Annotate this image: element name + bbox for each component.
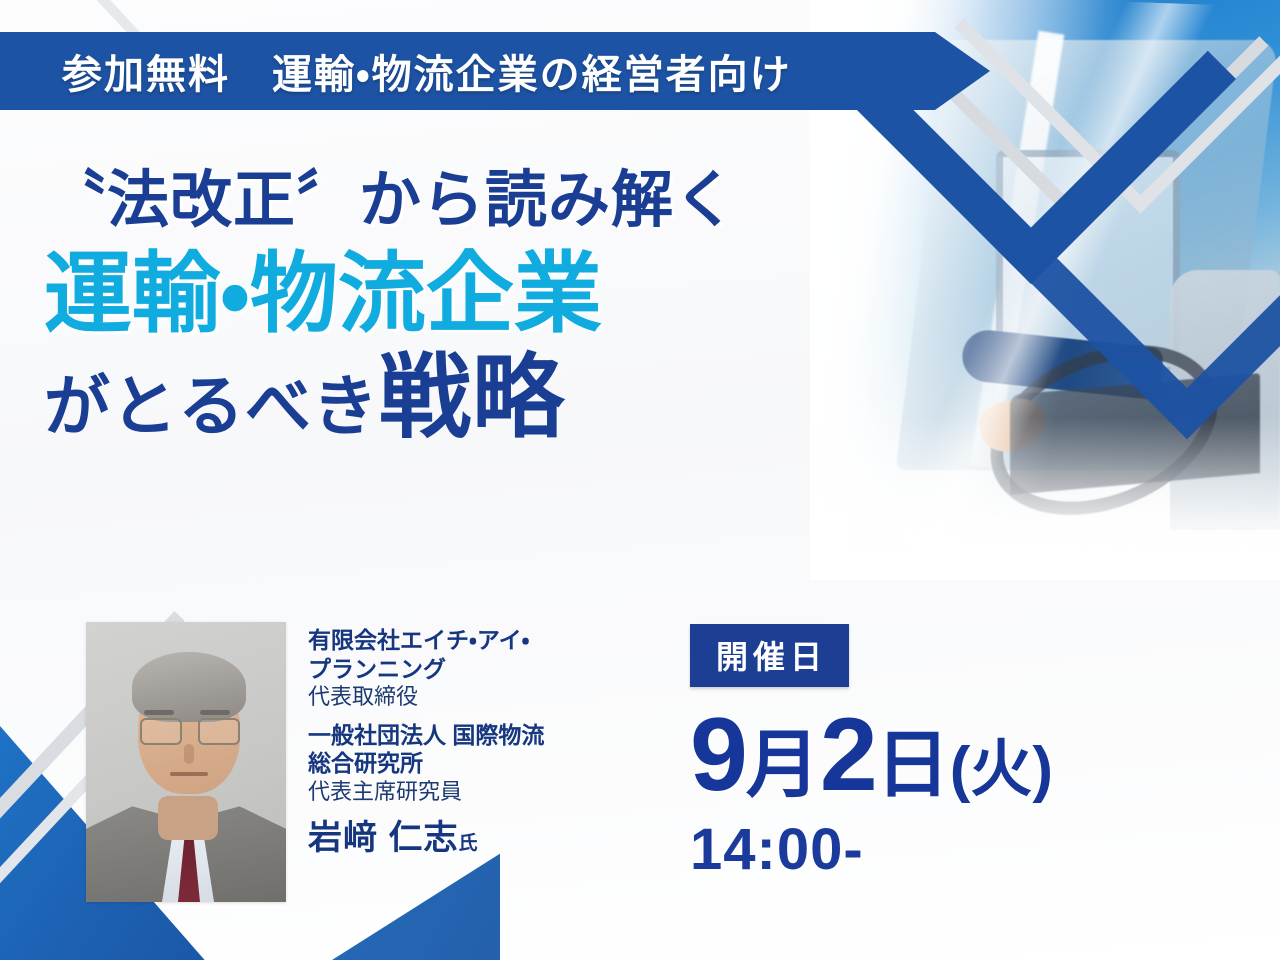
- eyebrow-left-shape: [144, 710, 174, 715]
- event-day-number: 2: [820, 697, 876, 813]
- page-title: 〝法改正〞から読み解く 運輸・物流企業 がとるべき戦略: [44, 168, 737, 446]
- speaker-name-suffix: 氏: [458, 833, 478, 854]
- event-day-kanji: 日: [876, 723, 950, 806]
- eyebrow-right-shape: [200, 710, 230, 715]
- event-date-block: 開催日 9月2日(火) 14:00-: [690, 624, 1053, 879]
- webinar-banner: 参加無料 運輸・物流企業の経営者向け 〝法改正〞から読み解く 運輸・物流企業 が…: [0, 0, 1280, 960]
- speaker-org-1-line-2: プランニング: [308, 655, 544, 684]
- mouth-shape: [170, 772, 208, 776]
- speaker-name-text: 岩﨑 仁志: [308, 819, 458, 857]
- event-time: 14:00-: [690, 821, 1053, 879]
- speaker-org-2-line-1: 一般社団法人 国際物流: [308, 721, 544, 750]
- avatar: [86, 622, 286, 902]
- speaker-org-1-line-1: 有限会社エイチ・アイ・: [308, 626, 544, 655]
- glasses-icon: [140, 718, 240, 742]
- headline-line-1: 〝法改正〞から読み解く: [44, 168, 737, 233]
- status-badge: 開催日: [690, 624, 849, 687]
- headline-line-3: がとるべき戦略: [44, 350, 737, 447]
- event-month-kanji: 月: [746, 723, 820, 806]
- header-ribbon-text: 参加無料 運輸・物流企業の経営者向け: [62, 42, 792, 100]
- headline-line-3-big: 戦略: [379, 347, 565, 449]
- speaker-text: 有限会社エイチ・アイ・ プランニング 代表取締役 一般社団法人 国際物流 総合研…: [308, 622, 544, 859]
- speaker-name: 岩﨑 仁志氏: [308, 810, 544, 859]
- event-date: 9月2日(火): [690, 703, 1053, 807]
- nose-shape: [184, 744, 194, 764]
- speaker-role-1: 代表取締役: [308, 683, 544, 712]
- neck-shape: [158, 796, 218, 840]
- event-month-number: 9: [690, 697, 746, 813]
- headline-line-3-small: がとるべき: [44, 369, 379, 443]
- speaker-block: 有限会社エイチ・アイ・ プランニング 代表取締役 一般社団法人 国際物流 総合研…: [86, 622, 544, 902]
- event-weekday: (火): [950, 735, 1053, 804]
- speaker-spacer: [308, 712, 544, 721]
- headline-line-2: 運輸・物流企業: [44, 245, 737, 344]
- speaker-org-2-line-2: 総合研究所: [308, 749, 544, 778]
- header-ribbon: 参加無料 運輸・物流企業の経営者向け: [0, 32, 990, 110]
- speaker-role-2: 代表主席研究員: [308, 778, 544, 807]
